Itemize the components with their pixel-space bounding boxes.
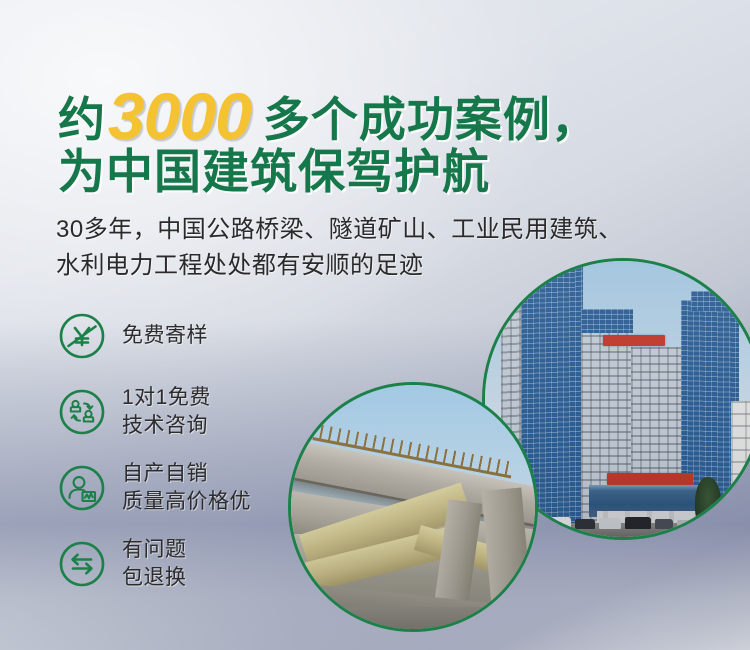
promo-banner: 约 3000 多个成功案例， 为中国建筑保驾护航 30多年，中国公路桥梁、隧道矿…: [0, 0, 750, 650]
feature-item: 自产自销 质量高价格优: [58, 450, 318, 526]
headline-suffix: 多个成功案例，: [263, 96, 599, 143]
feature-label: 自产自销 质量高价格优: [122, 460, 251, 515]
photo-tone: [291, 385, 535, 629]
bridge-scene: [291, 385, 535, 629]
bridge-photo: [288, 382, 538, 632]
headline-prefix: 约: [58, 96, 106, 143]
subtitle-line-1: 30多年，中国公路桥梁、隧道矿山、工业民用建筑、: [56, 212, 623, 248]
feature-label: 有问题 包退换: [122, 536, 187, 591]
feature-item: 1对1免费 技术咨询: [58, 374, 318, 450]
feature-item: 免费寄样: [58, 298, 318, 374]
headline-line-2: 为中国建筑保驾护航: [58, 148, 599, 195]
headline-line-1: 约 3000 多个成功案例，: [58, 80, 599, 142]
free-shipping-icon: [58, 312, 106, 360]
feature-item: 有问题 包退换: [58, 526, 318, 602]
one-on-one-consult-icon: [58, 388, 106, 436]
headline-block: 约 3000 多个成功案例， 为中国建筑保驾护航: [58, 80, 599, 195]
feature-label: 免费寄样: [122, 322, 208, 350]
feature-label: 1对1免费 技术咨询: [122, 384, 211, 439]
headline-number: 3000: [108, 83, 251, 149]
return-exchange-icon: [58, 540, 106, 588]
feature-list: 免费寄样 1对1免费 技术咨: [58, 298, 318, 602]
self-produced-quality-icon: [58, 464, 106, 512]
